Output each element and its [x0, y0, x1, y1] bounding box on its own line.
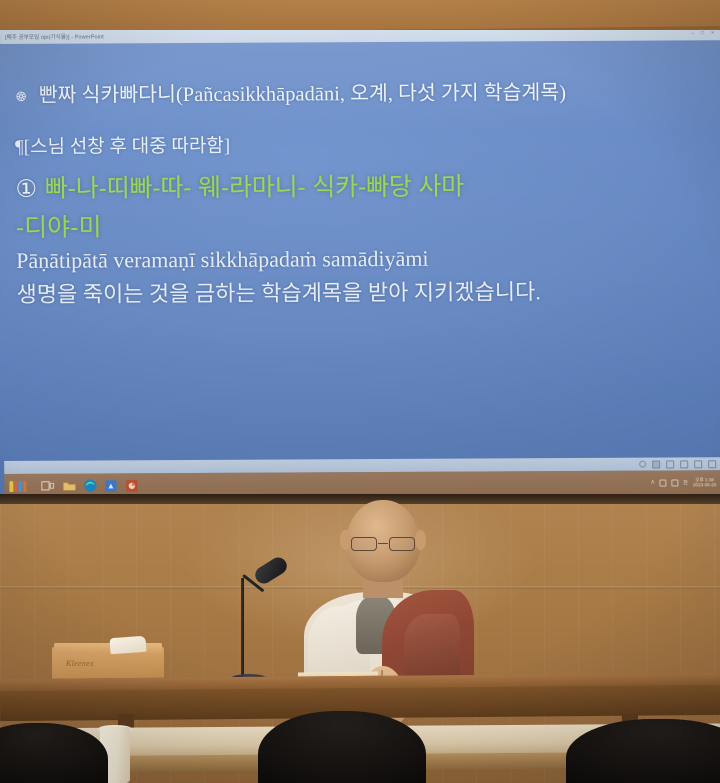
microphone-stem: [241, 578, 244, 678]
flower-bullet-icon: [15, 90, 28, 103]
clock-date: 2023-06-25: [693, 482, 717, 487]
slide-heading-text: 빤짜 식카빠다니(Pañcasikkhāpadāni, 오계, 다섯 가지 학습…: [39, 82, 566, 107]
window-title: [매주 공부모임 oje(가식물)] - PowerPoint: [5, 32, 104, 41]
fit-slide-icon[interactable]: [639, 461, 646, 468]
slide-narration-note: ¶[스님 선창 후 대중 따라함]: [15, 128, 705, 159]
input-method-indicator[interactable]: 한: [683, 479, 688, 486]
lecture-hall-scene: [매주 공부모임 oje(가식물)] - PowerPoint – □ ×: [0, 0, 720, 783]
tissue-brand-label: Kleenex: [66, 659, 94, 668]
slide-sorter-icon[interactable]: [666, 460, 674, 468]
network-icon[interactable]: [659, 479, 666, 486]
normal-view-icon[interactable]: [652, 460, 660, 468]
zoom-control[interactable]: [708, 460, 716, 468]
chant-line-continued: -디야-미: [16, 205, 706, 245]
eyeglasses: [350, 537, 416, 552]
task-view-icon[interactable]: [38, 476, 57, 495]
powerpoint-icon[interactable]: [122, 476, 141, 495]
system-tray[interactable]: ʌ 한 오후 1:36 2023-06-25: [651, 477, 720, 488]
file-explorer-icon[interactable]: [59, 476, 78, 495]
projection-screen: [매주 공부모임 oje(가식물)] - PowerPoint – □ ×: [0, 30, 720, 498]
restore-button[interactable]: □: [701, 30, 704, 36]
volume-icon[interactable]: [671, 479, 678, 486]
item-number: ①: [15, 172, 37, 205]
audience-chair: [258, 711, 426, 783]
tissue-sheet: [109, 636, 146, 654]
korean-translation: 생명을 죽이는 것을 금하는 학습계목을 받아 지키겠습니다.: [16, 274, 706, 310]
chant-text-1: 빠-나-띠빠-따- 웨-라마니- 식카-빠당 사마: [45, 172, 464, 202]
pali-romanization: Pāṇātipātā veramaṇī sikkhāpadaṁ samādiyā…: [16, 245, 706, 275]
edge-browser-icon[interactable]: [80, 476, 99, 495]
chant-line-primary: ①빠-나-띠빠-따- 웨-라마니- 식카-빠당 사마: [15, 169, 705, 206]
clock[interactable]: 오후 1:36 2023-06-25: [693, 477, 717, 488]
desk-microphone: [228, 562, 288, 692]
slideshow-icon[interactable]: [694, 460, 702, 468]
minimize-button[interactable]: –: [691, 30, 694, 36]
reading-view-icon[interactable]: [680, 460, 688, 468]
window-controls[interactable]: – □ ×: [691, 30, 720, 36]
slide-heading-line: 빤짜 식카빠다니(Pañcasikkhāpadāni, 오계, 다섯 가지 학습…: [15, 80, 705, 109]
start-people-icon[interactable]: [8, 476, 27, 495]
slide-canvas[interactable]: 빤짜 식카빠다니(Pañcasikkhāpadāni, 오계, 다섯 가지 학습…: [0, 40, 720, 474]
close-button[interactable]: ×: [711, 30, 714, 36]
store-app-icon[interactable]: [101, 476, 120, 495]
chevron-up-icon[interactable]: ʌ: [651, 480, 654, 486]
